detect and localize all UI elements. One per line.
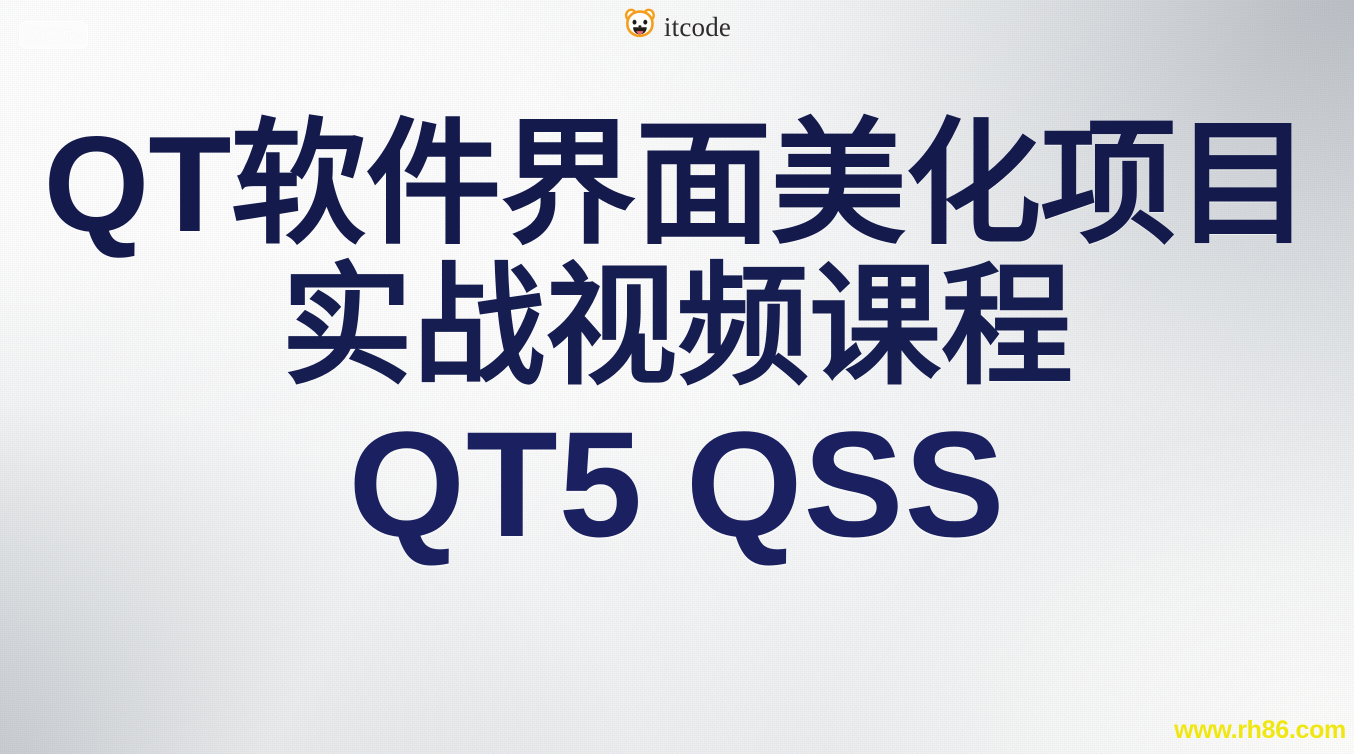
course-title-line-2: 实战视频课程 [0, 252, 1354, 402]
course-cover-canvas: AI 生成 itcode QT软件界面美化项目 [0, 0, 1354, 754]
ai-badge-prefix: AI [31, 29, 44, 42]
itcode-dog-mascot-icon [623, 8, 657, 45]
course-title-line-1: QT软件界面美化项目 [0, 108, 1354, 260]
itcode-logo: itcode [623, 8, 731, 45]
ai-generated-badge: AI 生成 [19, 21, 88, 49]
itcode-wordmark: itcode [664, 14, 731, 41]
site-watermark: www.rh86.com [1174, 716, 1346, 745]
course-title-block: QT软件界面美化项目 实战视频课程 QT5 QSS [0, 108, 1354, 564]
course-title-line-3: QT5 QSS [0, 405, 1354, 564]
ai-badge-label: 生成 [48, 29, 76, 42]
